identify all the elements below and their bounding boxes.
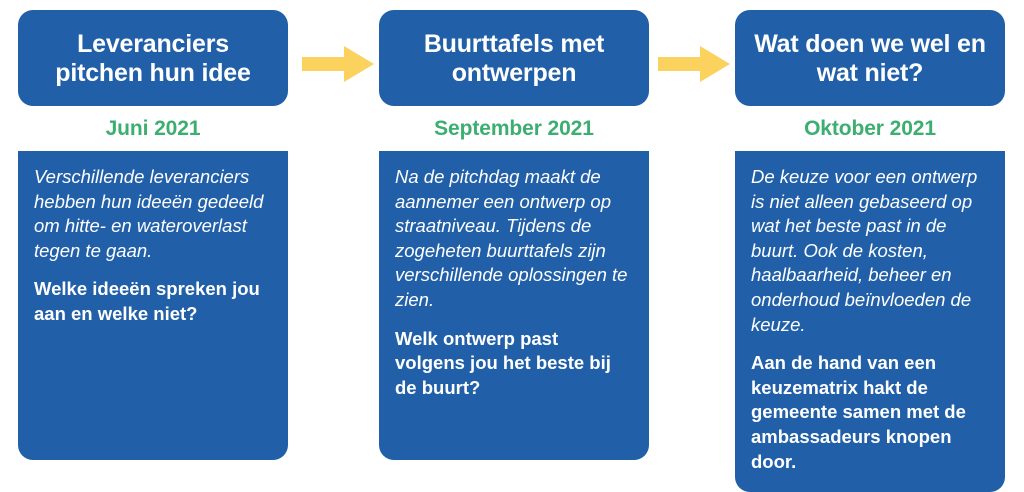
process-timeline-diagram: Leveranciers pitchen hun idee Juni 2021 … xyxy=(0,0,1024,468)
step-1-description: Verschillende leveranciers hebben hun id… xyxy=(34,165,272,263)
step-2-header-card: Buurttafels met ontwerpen xyxy=(379,10,649,106)
step-1-title: Leveranciers pitchen hun idee xyxy=(32,30,274,88)
step-3-body-card: De keuze voor een ontwerp is niet alleen… xyxy=(735,151,1005,492)
step-2-question: Welk ontwerp past volgens jou het beste … xyxy=(395,327,633,401)
process-step-1: Leveranciers pitchen hun idee Juni 2021 … xyxy=(18,10,288,460)
step-3-title: Wat doen we wel en wat niet? xyxy=(749,30,991,88)
process-step-2: Buurttafels met ontwerpen September 2021… xyxy=(379,10,649,460)
step-1-body-card: Verschillende leveranciers hebben hun id… xyxy=(18,151,288,460)
process-step-3: Wat doen we wel en wat niet? Oktober 202… xyxy=(735,10,1005,492)
step-3-header-card: Wat doen we wel en wat niet? xyxy=(735,10,1005,106)
step-2-description: Na de pitchdag maakt de aannemer een ont… xyxy=(395,165,633,313)
arrow-right-icon xyxy=(658,44,730,84)
step-3-description: De keuze voor een ontwerp is niet alleen… xyxy=(751,165,989,337)
step-2-date: September 2021 xyxy=(379,106,649,151)
step-2-title: Buurttafels met ontwerpen xyxy=(393,30,635,88)
step-3-question: Aan de hand van een keuzematrix hakt de … xyxy=(751,351,989,474)
step-3-date: Oktober 2021 xyxy=(735,106,1005,151)
step-2-body-card: Na de pitchdag maakt de aannemer een ont… xyxy=(379,151,649,460)
step-1-question: Welke ideeën spreken jou aan en welke ni… xyxy=(34,277,272,326)
step-1-header-card: Leveranciers pitchen hun idee xyxy=(18,10,288,106)
arrow-right-icon xyxy=(302,44,374,84)
step-1-date: Juni 2021 xyxy=(18,106,288,151)
